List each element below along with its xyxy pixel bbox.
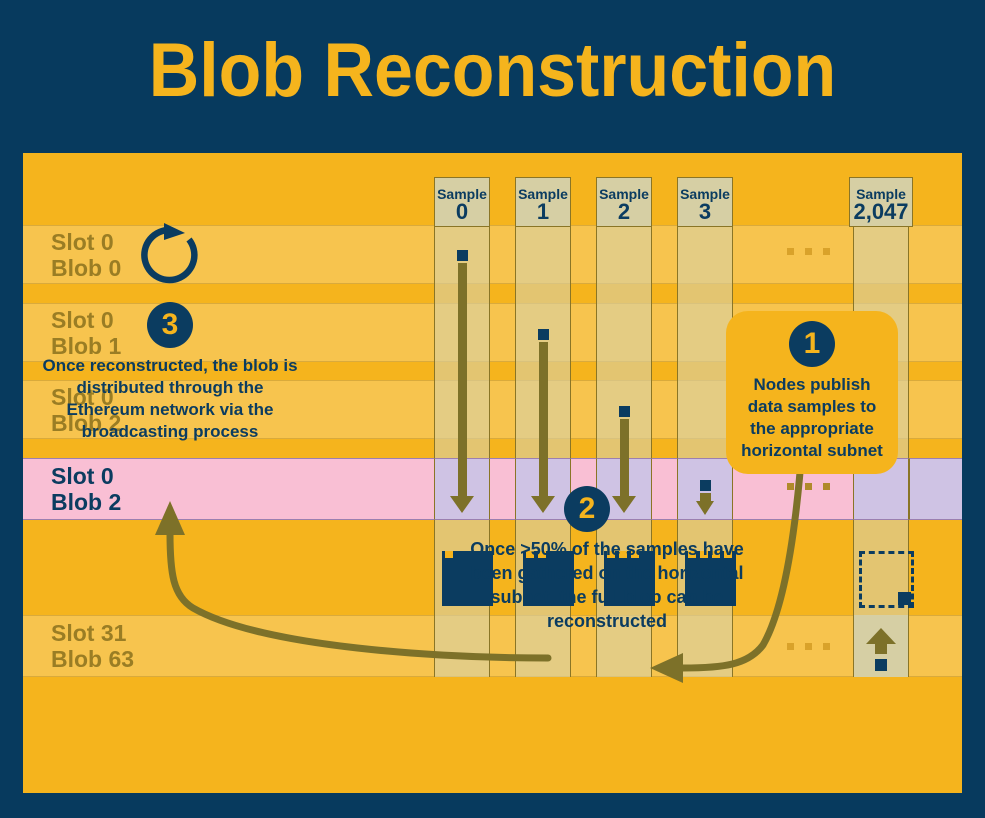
square-corner-fill (898, 592, 911, 605)
publish-arrow-1 (515, 342, 571, 513)
row-label-line2: Blob 2 (51, 489, 121, 515)
row-label-line1: Slot 31 (51, 620, 126, 646)
sample-column-header-1[interactable]: Sample 1 (515, 177, 571, 227)
step-badge-wrap-2: 2 (564, 486, 610, 532)
sample-column-header-2047[interactable]: Sample 2,047 (849, 177, 913, 227)
ellipsis-dots-icon-bottom (787, 643, 830, 650)
row-label-line1: Slot 0 (51, 463, 114, 489)
callout-text-3: Once reconstructed, the blob is distribu… (40, 355, 300, 443)
publish-arrow-3 (677, 493, 733, 515)
broadcast-sample-dot (875, 659, 887, 671)
sample-dot-0 (457, 250, 468, 261)
sample-header-number: 2 (618, 203, 630, 220)
badge-wrap-3: 3 (40, 302, 300, 348)
sample-column-header-2[interactable]: Sample 2 (596, 177, 652, 227)
highlight-cell-tail (909, 458, 962, 520)
broadcast-up-arrow-icon (861, 628, 901, 654)
sample-column-header-0[interactable]: Sample 0 (434, 177, 490, 227)
reconstruction-square-2047 (859, 551, 914, 608)
sample-dot-3 (700, 480, 711, 491)
sample-header-number: 2,047 (853, 203, 908, 220)
sample-dot-1 (538, 329, 549, 340)
sample-dot-2 (619, 406, 630, 417)
ellipsis-dots-icon-highlight (787, 483, 830, 490)
page-title: Blob Reconstruction (39, 28, 945, 114)
sample-header-number: 1 (537, 203, 549, 220)
square-gap (445, 551, 453, 558)
step-badge-2: 2 (564, 486, 610, 532)
callout-text-2: Once >50% of the samples have been gathe… (467, 537, 747, 633)
diagram-panel: Slot 0 Blob 0 Slot 0 Blob 1 Slot 0 Blob … (23, 153, 962, 793)
refresh-loop-icon-wrap (40, 220, 300, 290)
sample-header-number: 3 (699, 203, 711, 220)
publish-arrow-0 (434, 263, 490, 513)
ellipsis-dots-icon-top (787, 248, 830, 255)
badge-wrap-1: 1 (738, 321, 886, 367)
step-badge-1: 1 (789, 321, 835, 367)
callout-step-1: 1 Nodes publish data samples to the appr… (726, 311, 898, 474)
row-label-4: Slot 31 Blob 63 (37, 615, 327, 677)
row-label-line2: Blob 63 (51, 646, 134, 672)
callout-text-1: Nodes publish data samples to the approp… (738, 374, 886, 462)
sample-header-number: 0 (456, 203, 468, 220)
refresh-loop-icon (135, 220, 205, 290)
infographic-root: Blob Reconstruction Slot 0 Blob 0 Slot 0… (0, 0, 985, 818)
row-label-3: Slot 0 Blob 2 (37, 458, 327, 520)
sample-column-header-3[interactable]: Sample 3 (677, 177, 733, 227)
step-badge-3: 3 (147, 302, 193, 348)
step-3-block: 3 Once reconstructed, the blob is distri… (40, 220, 300, 443)
